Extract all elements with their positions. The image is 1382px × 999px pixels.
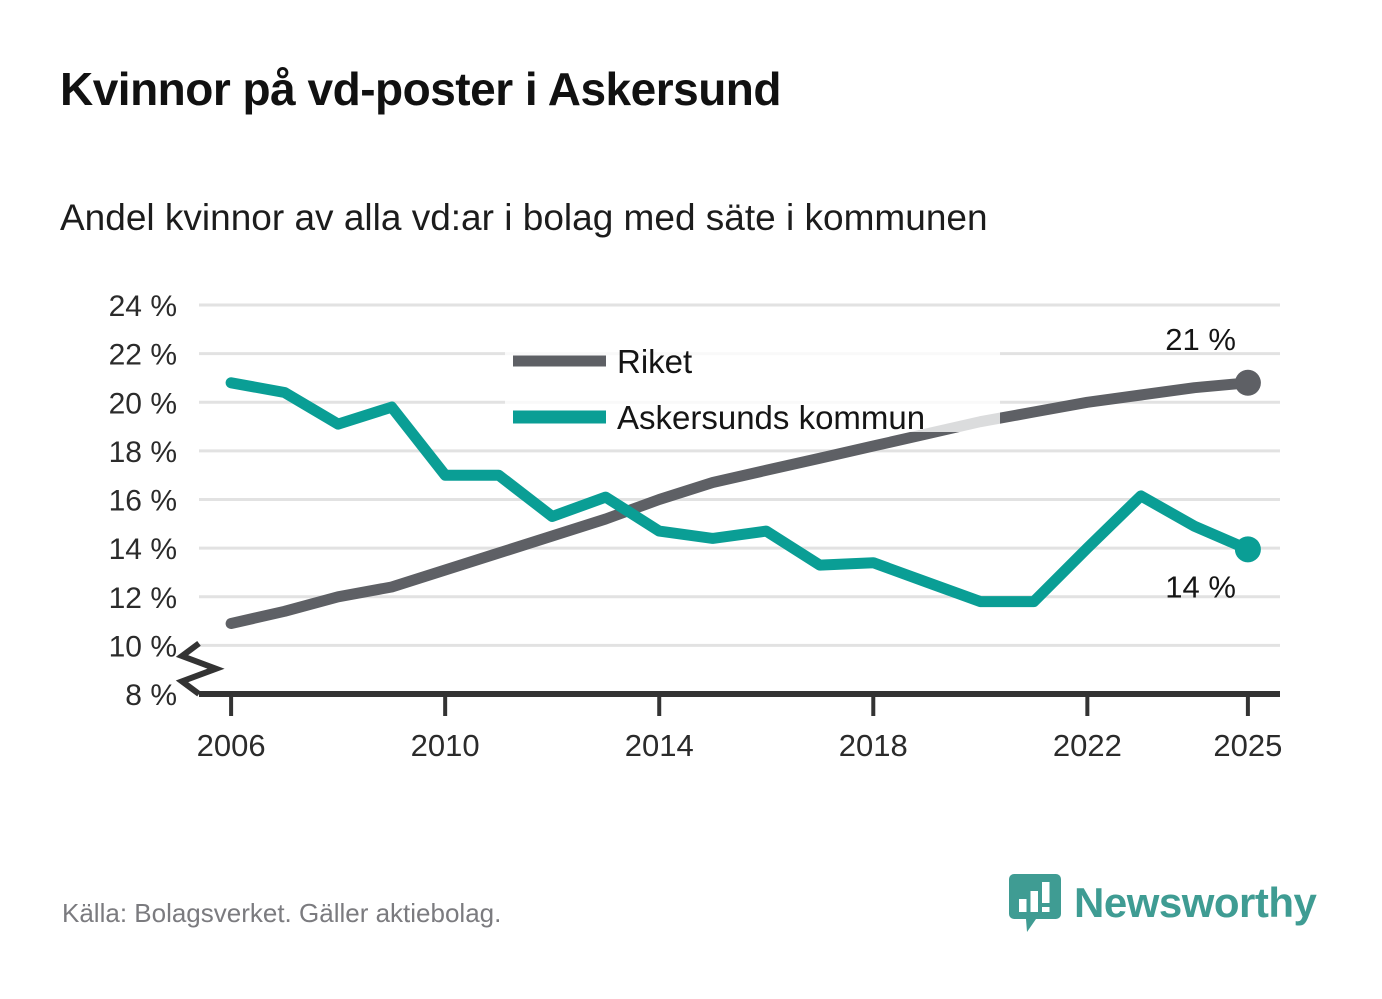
line-chart-plot: 8 %10 %12 %14 %16 %18 %20 %22 %24 % 2006… bbox=[0, 0, 1382, 800]
endpoint-value-label: 14 % bbox=[1165, 569, 1236, 604]
source-note: Källa: Bolagsverket. Gäller aktiebolag. bbox=[62, 898, 501, 929]
endpoint-marker bbox=[1235, 536, 1261, 562]
y-axis-tick-label: 10 % bbox=[109, 630, 177, 663]
y-axis-tick-label: 14 % bbox=[109, 533, 177, 566]
y-axis-tick-label: 20 % bbox=[109, 387, 177, 420]
x-axis-tick-label: 2025 bbox=[1213, 728, 1282, 763]
y-axis-break-marker bbox=[182, 643, 216, 694]
endpoint-marker bbox=[1235, 370, 1261, 396]
x-axis-tick-label: 2022 bbox=[1053, 728, 1122, 763]
x-axis-tick-label: 2018 bbox=[839, 728, 908, 763]
legend-label: Askersunds kommun bbox=[617, 399, 925, 436]
endpoint-value-labels: 21 %14 % bbox=[1165, 322, 1236, 605]
series-lines-group bbox=[231, 330, 1261, 624]
x-axis-tick-label: 2010 bbox=[411, 728, 480, 763]
y-axis-tick-label: 22 % bbox=[109, 339, 177, 372]
y-axis-tick-labels: 8 %10 %12 %14 %16 %18 %20 %22 %24 % bbox=[109, 290, 177, 712]
axis-lines-group bbox=[182, 643, 1280, 716]
chart-card: Kvinnor på vd-poster i Askersund Andel k… bbox=[0, 0, 1382, 999]
logo-wordmark: Newsworthy bbox=[1074, 882, 1316, 924]
y-axis-tick-label: 18 % bbox=[109, 436, 177, 469]
y-axis-tick-label: 16 % bbox=[109, 485, 177, 518]
legend-label: Riket bbox=[617, 343, 692, 380]
y-axis-tick-label: 8 % bbox=[125, 679, 177, 712]
bar-chart-speech-bubble-icon bbox=[1008, 872, 1062, 934]
y-axis-tick-label: 12 % bbox=[109, 582, 177, 615]
x-axis-tick-labels: 200620102014201820222025 bbox=[197, 728, 1283, 763]
newsworthy-logo[interactable]: Newsworthy bbox=[1008, 872, 1316, 934]
x-axis-tick-label: 2006 bbox=[197, 728, 266, 763]
x-axis-tick-label: 2014 bbox=[625, 728, 694, 763]
y-axis-tick-label: 24 % bbox=[109, 290, 177, 323]
endpoint-value-label: 21 % bbox=[1165, 322, 1236, 357]
